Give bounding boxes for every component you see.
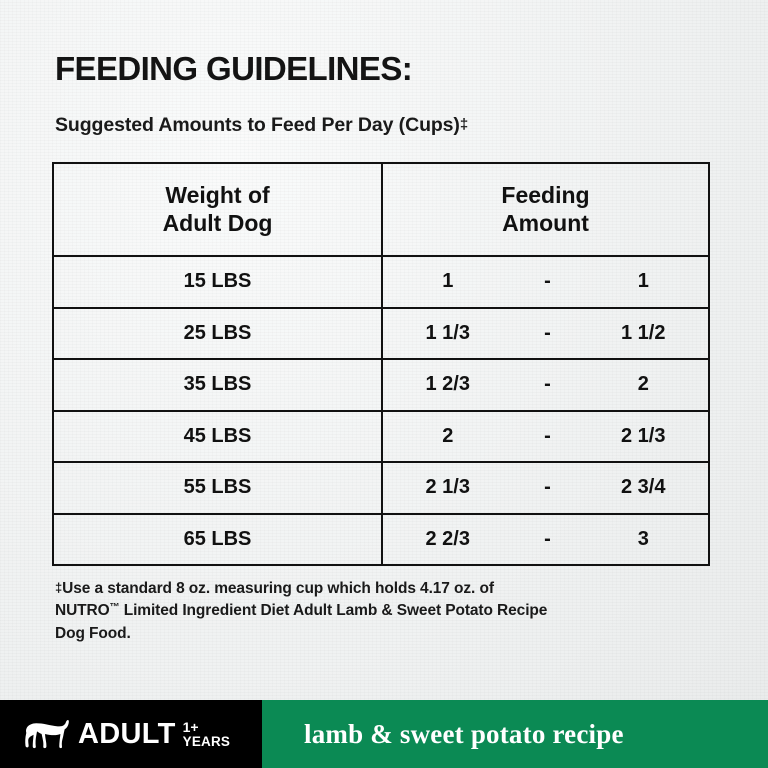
- table-header-row: Weight of Adult Dog Feeding Amount: [53, 163, 709, 256]
- cell-weight: 25 LBS: [53, 308, 382, 360]
- table-row: 35 LBS 1 2/3 - 2: [53, 359, 709, 411]
- cell-amount: 1 1/3 - 1 1/2: [382, 308, 709, 360]
- recipe-label: lamb & sweet potato recipe: [304, 719, 624, 750]
- amount-min: 1: [383, 270, 531, 293]
- amount-range-dash: -: [531, 373, 565, 396]
- amount-range-dash: -: [531, 425, 565, 448]
- cell-amount: 2 - 2 1/3: [382, 411, 709, 463]
- amount-max: 3: [565, 528, 709, 551]
- life-stage-panel: ADULT 1+ YEARS: [0, 700, 262, 768]
- amount-max: 2: [565, 373, 709, 396]
- cell-amount: 1 2/3 - 2: [382, 359, 709, 411]
- amount-max: 2 1/3: [565, 425, 709, 448]
- age-range-block: 1+ YEARS: [183, 720, 231, 749]
- cell-weight: 35 LBS: [53, 359, 382, 411]
- bottom-bar: ADULT 1+ YEARS lamb & sweet potato recip…: [0, 700, 768, 768]
- cell-weight: 15 LBS: [53, 256, 382, 308]
- column-header-amount-line2: Amount: [383, 210, 708, 237]
- table-row: 45 LBS 2 - 2 1/3: [53, 411, 709, 463]
- recipe-panel: lamb & sweet potato recipe: [262, 700, 768, 768]
- cell-amount: 1 - 1: [382, 256, 709, 308]
- age-unit: YEARS: [183, 735, 231, 749]
- table-header: Weight of Adult Dog Feeding Amount: [53, 163, 709, 256]
- cell-weight: 65 LBS: [53, 514, 382, 566]
- column-header-weight: Weight of Adult Dog: [53, 163, 382, 256]
- column-header-weight-line2: Adult Dog: [54, 210, 381, 237]
- age-number: 1+: [183, 720, 231, 734]
- amount-min: 2 1/3: [383, 476, 531, 499]
- amount-max: 1 1/2: [565, 322, 709, 345]
- amount-min: 2 2/3: [383, 528, 531, 551]
- footnote-text-part2: Limited Ingredient Diet Adult Lamb & Swe…: [55, 602, 547, 641]
- table-body: 15 LBS 1 - 1 25 LBS 1 1/3 - 1 1/2: [53, 256, 709, 565]
- cell-weight: 55 LBS: [53, 462, 382, 514]
- table-row: 55 LBS 2 1/3 - 2 3/4: [53, 462, 709, 514]
- page-subtitle-text: Suggested Amounts to Feed Per Day (Cups): [55, 114, 460, 136]
- table-row: 65 LBS 2 2/3 - 3: [53, 514, 709, 566]
- dog-silhouette-icon: [24, 718, 70, 750]
- page-title: FEEDING GUIDELINES:: [55, 50, 412, 88]
- column-header-amount: Feeding Amount: [382, 163, 709, 256]
- column-header-amount-line1: Feeding: [383, 182, 708, 209]
- cell-weight: 45 LBS: [53, 411, 382, 463]
- cell-amount: 2 1/3 - 2 3/4: [382, 462, 709, 514]
- feeding-guidelines-table: Weight of Adult Dog Feeding Amount 15 LB…: [52, 162, 710, 566]
- amount-range-dash: -: [531, 270, 565, 293]
- amount-range-dash: -: [531, 476, 565, 499]
- life-stage-label: ADULT: [78, 720, 176, 749]
- amount-range-dash: -: [531, 322, 565, 345]
- footnote: ‡Use a standard 8 oz. measuring cup whic…: [55, 578, 555, 645]
- amount-max: 1: [565, 270, 709, 293]
- table-row: 15 LBS 1 - 1: [53, 256, 709, 308]
- table-row: 25 LBS 1 1/3 - 1 1/2: [53, 308, 709, 360]
- column-header-weight-line1: Weight of: [54, 182, 381, 209]
- amount-min: 1 1/3: [383, 322, 531, 345]
- amount-range-dash: -: [531, 528, 565, 551]
- page-subtitle: Suggested Amounts to Feed Per Day (Cups)…: [55, 114, 468, 137]
- amount-max: 2 3/4: [565, 476, 709, 499]
- feeding-guidelines-page: FEEDING GUIDELINES: Suggested Amounts to…: [0, 0, 768, 768]
- amount-min: 1 2/3: [383, 373, 531, 396]
- amount-min: 2: [383, 425, 531, 448]
- cell-amount: 2 2/3 - 3: [382, 514, 709, 566]
- trademark-symbol: ™: [110, 602, 120, 613]
- subtitle-footnote-marker: ‡: [460, 116, 468, 133]
